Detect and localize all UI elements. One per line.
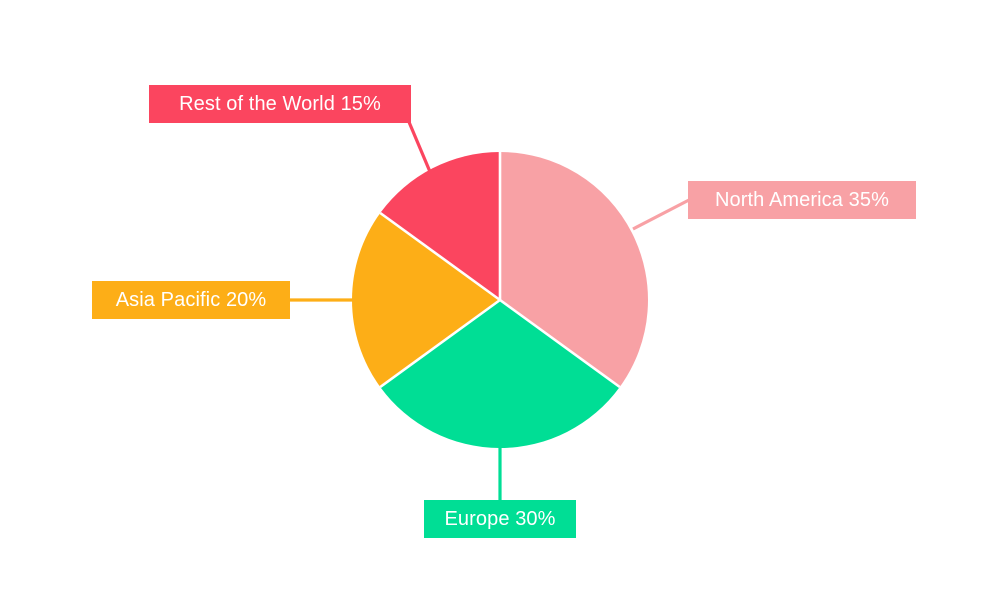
pie-label-north-america-text: North America 35% bbox=[715, 190, 889, 210]
pie-label-europe-text: Europe 30% bbox=[444, 509, 555, 529]
pie-label-asia-pacific-text: Asia Pacific 20% bbox=[116, 290, 267, 310]
pie-label-rest-of-world[interactable]: Rest of the World 15% bbox=[149, 85, 411, 123]
pie-label-north-america[interactable]: North America 35% bbox=[688, 181, 916, 219]
pie-chart-figure: North America 35% Europe 30% Asia Pacifi… bbox=[0, 0, 1000, 600]
pie-label-rest-of-world-text: Rest of the World 15% bbox=[179, 94, 381, 114]
pie-label-europe[interactable]: Europe 30% bbox=[424, 500, 576, 538]
pie-label-asia-pacific[interactable]: Asia Pacific 20% bbox=[92, 281, 290, 319]
leader-line-north-america bbox=[633, 200, 689, 229]
